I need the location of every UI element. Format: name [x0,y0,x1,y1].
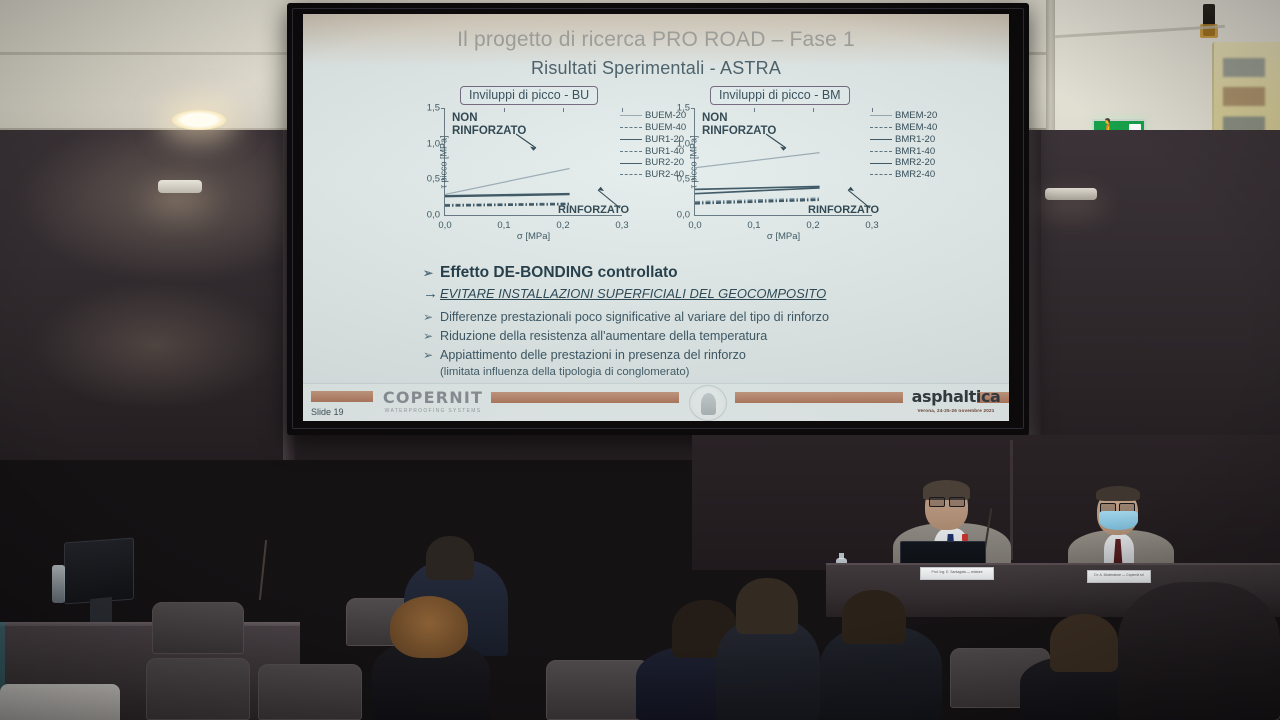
slide-subtitle: Risultati Sperimentali - ASTRA [303,58,1009,79]
bullet-item-1: → EVITARE INSTALLAZIONI SUPERFICIALI DEL… [423,285,993,302]
logo-asphaltica-date: Verona, 24-25-26 novembre 2021 [903,408,1009,413]
chart-bu: Inviluppi di picco - BU τ picco [MPa] 0,… [408,86,681,256]
audience-member-8-body [0,684,120,720]
chart-bu-ytick-2: 1,0 [427,138,440,149]
bullet-text-0: Effetto DE-BONDING controllato [440,264,678,282]
legend-item-bm-0: BMEM-20 [895,111,937,121]
audience-member-4-head [736,578,798,634]
speaker-secondary-hair [1096,486,1140,501]
chart-bm-series-BMEM-20 [695,153,820,168]
chair-front-1 [152,602,244,654]
bullet-marker-arrow-icon: ➢ [423,347,440,364]
slide-footer: Slide 19 COPERNIT WATERPROOFING SYSTEMS … [303,383,1009,421]
chart-bm-xlabel: σ [MPa] [767,231,800,242]
side-desk-water-bottle [52,565,65,603]
speaker-primary-lapel-pin [962,534,968,541]
wall-pillar-right [1029,130,1041,460]
chart-bm-ytick-3: 1,5 [677,103,690,114]
chart-bu-annotation-unreinforced: NONRINFORZATO [452,112,526,138]
chart-bm-legend: BMEM-20 BMEM-40 BMR1-20 BMR1-40 BMR2-20 … [870,110,937,181]
slide-bullet-list: ➢ Effetto DE-BONDING controllato → EVITA… [423,264,993,378]
bullet-marker-arrow-icon: ➢ [423,328,440,345]
side-desk-microphone [259,540,267,600]
bullet-item-3: ➢ Riduzione della resistenza all'aumenta… [423,328,993,346]
bullet-marker-arrow-icon: ➢ [423,309,440,326]
legend-item-bm-1: BMEM-40 [895,123,937,133]
wall-light-right [1045,188,1097,200]
footer-accent-bar-3 [735,392,903,403]
legend-item-bm-5: BMR2-40 [895,170,935,180]
chart-bu-xtick-0: 0,0 [438,220,451,231]
nameplate-primary: Prof. Ing. E. Santagata — relatore [920,567,994,580]
nameplate-secondary: Dr. A. Moderatore — Copernit srl [1087,570,1151,583]
conference-room-scene: ↓ Il progetto di ricerca PRO ROAD – Fase… [0,0,1280,720]
audience-member-1-head [426,536,474,580]
speaker-secondary-glasses-icon [1100,503,1135,511]
speaker-primary-glasses-icon [929,497,965,505]
chair-row-1 [146,658,250,720]
logo-copernit: COPERNIT WATERPROOFING SYSTEMS [381,388,485,414]
presentation-slide: Il progetto di ricerca PRO ROAD – Fase 1… [303,14,1009,421]
footer-accent-bar-2 [491,392,679,403]
slide-number: Slide 19 [311,407,344,417]
footer-accent-bar-1 [311,391,373,402]
bullet-marker-arrow-icon: ➢ [423,266,440,280]
chart-bm: Inviluppi di picco - BM τ picco [MPa] 0,… [658,86,931,256]
chart-bu-title: Inviluppi di picco - BU [460,86,598,105]
audience-member-5-head [842,590,906,644]
bullet-item-0: ➢ Effetto DE-BONDING controllato [423,264,993,282]
chart-bm-ytick-1: 0,5 [677,174,690,185]
bullet-item-4: ➢ Appiattimento delle prestazioni in pre… [423,347,993,365]
bullet-text-3: Riduzione della resistenza all'aumentare… [440,328,767,346]
audience-member-6-head [1050,614,1118,672]
nameplate-primary-text: Prof. Ing. E. Santagata — relatore [921,568,993,574]
chart-bu-annotation-reinforced: RINFORZATO [558,204,629,216]
chart-bu-xtick-3: 0,3 [615,220,628,231]
bullet-text-2: Differenze prestazionali poco significat… [440,309,829,327]
chart-bm-annotation-unreinforced: NONRINFORZATO [702,112,776,138]
chart-bu-ytick-0: 0,0 [427,210,440,221]
chart-bu-xtick-1: 0,1 [497,220,510,231]
slide-title: Il progetto di ricerca PRO ROAD – Fase 1 [303,28,1009,52]
logo-copernit-name: COPERNIT [381,388,485,407]
logo-asphaltica: asphaltica Verona, 24-25-26 novembre 202… [903,387,1009,413]
chart-bu-ytick-1: 0,5 [427,174,440,185]
chart-bm-ytick-2: 1,0 [677,138,690,149]
chart-bm-xtick-2: 0,2 [806,220,819,231]
chart-bm-ytick-0: 0,0 [677,210,690,221]
chart-bu-ytick-3: 1,5 [427,103,440,114]
bullet-text-4: Appiattimento delle prestazioni in prese… [440,347,746,365]
chair-row-3 [546,660,650,720]
wall-light-left [158,180,202,193]
bullet-marker-rightarrow-icon: → [423,285,440,302]
logo-asphaltica-name: asphaltica [903,387,1009,406]
projection-screen-frame: Il progetto di ricerca PRO ROAD – Fase 1… [287,3,1029,435]
legend-item-bm-3: BMR1-40 [895,147,935,157]
chart-bu-xtick-2: 0,2 [556,220,569,231]
bullet-note: (limitata influenza della tipologia di c… [440,366,993,378]
logo-copernit-tagline: WATERPROOFING SYSTEMS [381,408,485,414]
bullet-text-1: EVITARE INSTALLAZIONI SUPERFICIALI DEL G… [440,286,826,301]
audience-member-2-head [390,596,468,658]
panel-backdrop-seam [1010,440,1013,560]
chart-bm-xtick-3: 0,3 [865,220,878,231]
bullet-item-2: ➢ Differenze prestazionali poco signific… [423,309,993,327]
speaker-secondary-face-mask [1099,511,1138,530]
chair-row-2 [258,664,362,720]
university-seal-icon [689,385,727,421]
chart-bu-series-BUEM-20 [445,168,570,194]
audience-member-7-body [1118,582,1280,720]
legend-item-bm-4: BMR2-20 [895,158,935,168]
chart-bm-xtick-0: 0,0 [688,220,701,231]
legend-item-bm-2: BMR1-20 [895,135,935,145]
side-desk-monitor [64,538,134,605]
chart-bm-xtick-1: 0,1 [747,220,760,231]
chart-bm-annotation-reinforced: RINFORZATO [808,204,879,216]
nameplate-secondary-text: Dr. A. Moderatore — Copernit srl [1088,571,1150,577]
wall-light-lit [172,110,226,130]
chart-bu-xlabel: σ [MPa] [517,231,550,242]
ceiling-mount-bracket [1203,4,1215,36]
chart-bm-title: Inviluppi di picco - BM [710,86,850,105]
